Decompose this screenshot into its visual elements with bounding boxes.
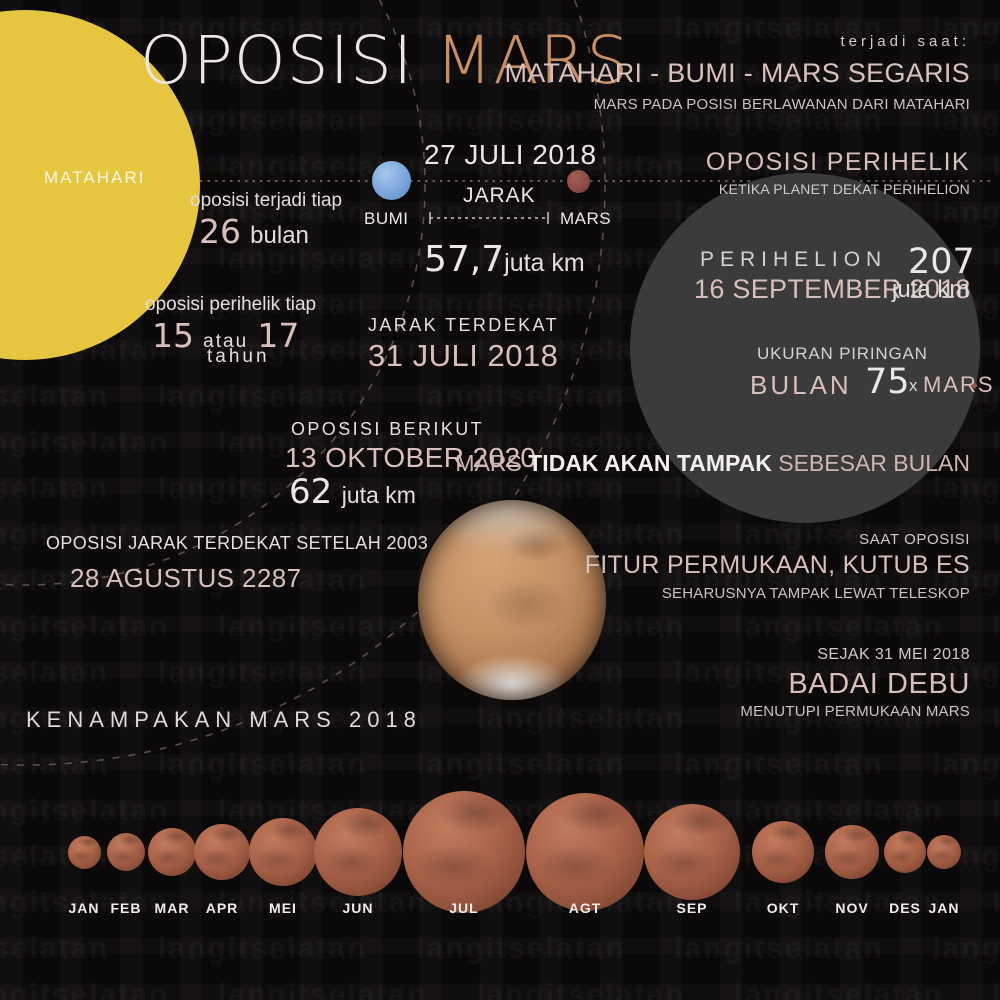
mars-disk-jun-5: [314, 808, 402, 896]
next-opposition-label: OPOSISI BERIKUT: [291, 419, 484, 440]
headline-berlawanan: MARS PADA POSISI BERLAWANAN DARI MATAHAR…: [594, 96, 970, 113]
next-opposition-number: 62: [289, 472, 332, 512]
mars-word: MARS: [923, 372, 995, 398]
mars-disk-mei-4: [249, 818, 317, 886]
footer: LANGITSELATAN ASTRO 101 langitselatan KO…: [0, 908, 1000, 1000]
eyebrow-terjadi-saat: terjadi saat:: [840, 33, 970, 50]
mars-tiny-dot-icon: [972, 383, 977, 388]
mars-disk-des-11: [884, 831, 926, 873]
perihelik-tiap-number-1: 15: [152, 316, 194, 355]
mars-planet-dot: [567, 170, 590, 193]
distance-unit: juta km: [504, 249, 585, 277]
mars-disk-okt-9: [752, 821, 814, 883]
oposisi-tiap-number: 26: [199, 212, 241, 251]
dust-storm-note: MENUTUPI PERMUKAAN MARS: [740, 703, 970, 720]
surface-features-headline: FITUR PERMUKAAN, KUTUB ES: [585, 551, 970, 580]
dust-storm-headline: BADAI DEBU: [788, 668, 970, 701]
distance-number: 57,7: [424, 239, 504, 280]
mars-disk-apr-3: [194, 824, 250, 880]
closest-approach-date: 31 JULI 2018: [368, 338, 558, 374]
mars-disk-agt-7: [526, 793, 644, 911]
moon-word: BULAN: [750, 370, 852, 401]
not-as-big-post: SEBESAR BULAN: [772, 450, 970, 476]
not-as-big-emphasis: TIDAK AKAN TAMPAK: [528, 450, 772, 476]
mars-size-timeline: JANFEBMARAPRMEIJUNJULAGTSEPOKTNOVDESJAN: [0, 760, 1000, 910]
disk-size-label: UKURAN PIRINGAN: [757, 344, 928, 364]
perihelion-label: PERIHELION: [700, 248, 887, 272]
earth-planet-dot: [372, 161, 411, 200]
mars-disk-jan-0: [68, 836, 101, 869]
closest-approach-label: JARAK TERDEKAT: [368, 315, 559, 336]
sun-label: MATAHARI: [44, 168, 145, 188]
mars-label: MARS: [560, 209, 611, 229]
appearance-section-title: KENAMPAKAN MARS 2018: [26, 707, 422, 733]
after-2003-label: OPOSISI JARAK TERDEKAT SETELAH 2003: [46, 533, 428, 554]
oposisi-perihelik-title: OPOSISI PERIHELIK: [706, 148, 970, 177]
perihelik-tiap-label: oposisi perihelik tiap: [145, 294, 316, 316]
saat-oposisi-label: SAAT OPOSISI: [859, 531, 970, 548]
mars-disk-sep-8: [644, 804, 740, 900]
distance-value-row: 57,7juta km: [424, 238, 585, 280]
earth-label: BUMI: [364, 209, 409, 229]
mars-disk-feb-1: [107, 833, 145, 871]
perihelion-distance-unit: juta km: [892, 276, 969, 304]
next-opposition-unit: juta km: [342, 482, 416, 508]
not-as-big-pre: MARS: [455, 450, 528, 476]
oposisi-tiap-unit: bulan: [250, 222, 309, 249]
oposisi-perihelik-sub: KETIKA PLANET DEKAT PERIHELION: [719, 181, 970, 197]
distance-label: JARAK: [463, 184, 536, 208]
telescope-note: SEHARUSNYA TAMPAK LEWAT TELESKOP: [662, 585, 970, 602]
infographic-canvas: langitselatan langitselatan langitselata…: [0, 0, 1000, 1000]
next-opposition-distance-row: 62 juta km: [289, 472, 416, 512]
perihelik-tiap-unit: tahun: [207, 346, 270, 368]
after-2003-date: 28 AGUSTUS 2287: [70, 563, 301, 594]
mars-disk-nov-10: [825, 825, 879, 879]
times-symbol: x: [909, 376, 918, 396]
headline-segaris: MATAHARI - BUMI - MARS SEGARIS: [504, 58, 970, 89]
size-factor-number: 75: [865, 362, 910, 402]
not-as-big-as-moon: MARS TIDAK AKAN TAMPAK SEBESAR BULAN: [455, 450, 970, 477]
opposition-date: 27 JULI 2018: [424, 139, 597, 171]
mars-disk-mar-2: [148, 828, 196, 876]
mars-disk-jul-6: [403, 791, 525, 913]
oposisi-tiap-value-row: 26 bulan: [199, 212, 309, 251]
oposisi-tiap-label: oposisi terjadi tiap: [190, 190, 342, 212]
mars-photo: [418, 500, 606, 700]
mars-disk-jan-12: [927, 835, 961, 869]
title-part-oposisi: OPOSISI: [140, 22, 413, 99]
dust-storm-since: SEJAK 31 MEI 2018: [817, 646, 970, 664]
